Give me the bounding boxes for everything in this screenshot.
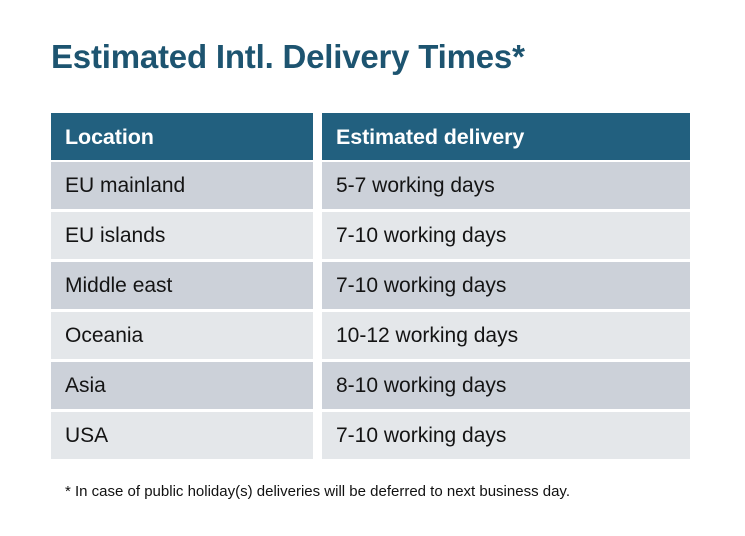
estimated-delivery-table: Location Estimated delivery EU mainland …	[51, 113, 690, 459]
table-row: Oceania 10-12 working days	[51, 312, 690, 359]
cell-estimated-delivery: 5-7 working days	[322, 162, 690, 209]
cell-location: EU mainland	[51, 162, 313, 209]
cell-estimated-delivery: 7-10 working days	[322, 412, 690, 459]
cell-location: Oceania	[51, 312, 313, 359]
table-row: Asia 8-10 working days	[51, 362, 690, 409]
table-row: Middle east 7-10 working days	[51, 262, 690, 309]
cell-estimated-delivery: 7-10 working days	[322, 262, 690, 309]
table-header-row: Location Estimated delivery	[51, 113, 690, 160]
cell-estimated-delivery: 8-10 working days	[322, 362, 690, 409]
cell-estimated-delivery: 7-10 working days	[322, 212, 690, 259]
cell-location: USA	[51, 412, 313, 459]
cell-estimated-delivery: 10-12 working days	[322, 312, 690, 359]
table-row: EU islands 7-10 working days	[51, 212, 690, 259]
cell-location: Asia	[51, 362, 313, 409]
delivery-times-page: Estimated Intl. Delivery Times* Location…	[0, 0, 745, 536]
column-header-location: Location	[51, 113, 313, 160]
column-header-estimated-delivery: Estimated delivery	[322, 113, 690, 160]
cell-location: EU islands	[51, 212, 313, 259]
table-row: USA 7-10 working days	[51, 412, 690, 459]
cell-location: Middle east	[51, 262, 313, 309]
footnote-text: * In case of public holiday(s) deliverie…	[65, 482, 725, 502]
table-row: EU mainland 5-7 working days	[51, 162, 690, 209]
page-title: Estimated Intl. Delivery Times*	[51, 36, 691, 78]
